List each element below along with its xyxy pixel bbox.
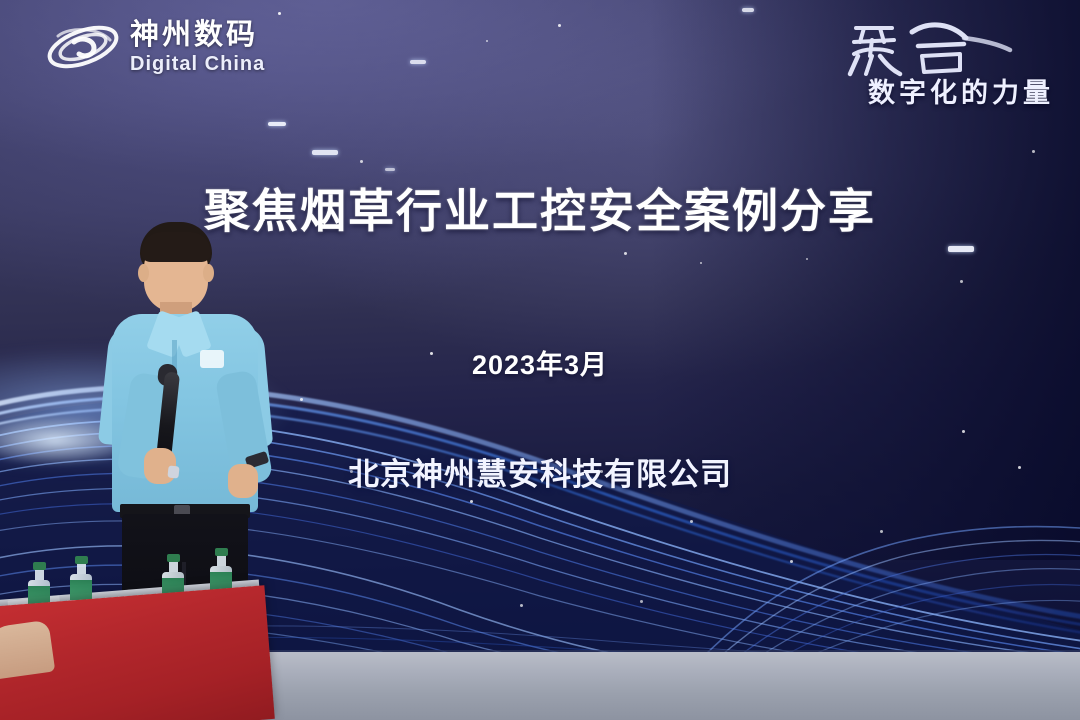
microphone-tip bbox=[167, 465, 179, 478]
bottle-neck bbox=[169, 562, 178, 572]
seated-attendee bbox=[0, 620, 55, 681]
brand-name-cn: 神州数码 bbox=[130, 19, 265, 52]
shirt-logo-icon bbox=[200, 350, 224, 368]
bottle-neck bbox=[217, 556, 226, 566]
conference-photo: 聚焦烟草行业工控安全案例分享 2023年3月 北京神州慧安科技有限公司 神州数码… bbox=[0, 0, 1080, 720]
speaker-hand-right bbox=[228, 464, 258, 498]
speaker-hair-front bbox=[141, 232, 211, 262]
bottle-neck bbox=[35, 570, 44, 580]
event-tagline: 数字化的力量 bbox=[834, 76, 1054, 110]
brand-name-en: Digital China bbox=[130, 52, 265, 76]
bottle-cap bbox=[33, 562, 46, 570]
bottle-neck bbox=[77, 564, 86, 574]
speaker-figure bbox=[96, 222, 276, 622]
event-logo: 数字化的力量 bbox=[834, 18, 1054, 110]
bottle-cap bbox=[75, 556, 88, 564]
digital-china-logo: 神州数码 Digital China bbox=[44, 16, 265, 78]
bottle-cap bbox=[215, 548, 228, 556]
particle bbox=[624, 252, 627, 255]
event-calligraphy-juhe bbox=[834, 18, 1054, 80]
bottle-label bbox=[70, 580, 92, 600]
speaker-ear-left bbox=[138, 264, 149, 282]
speaker-ear-right bbox=[203, 264, 214, 282]
bottle-cap bbox=[167, 554, 180, 562]
swirl-galaxy-icon bbox=[44, 16, 122, 78]
